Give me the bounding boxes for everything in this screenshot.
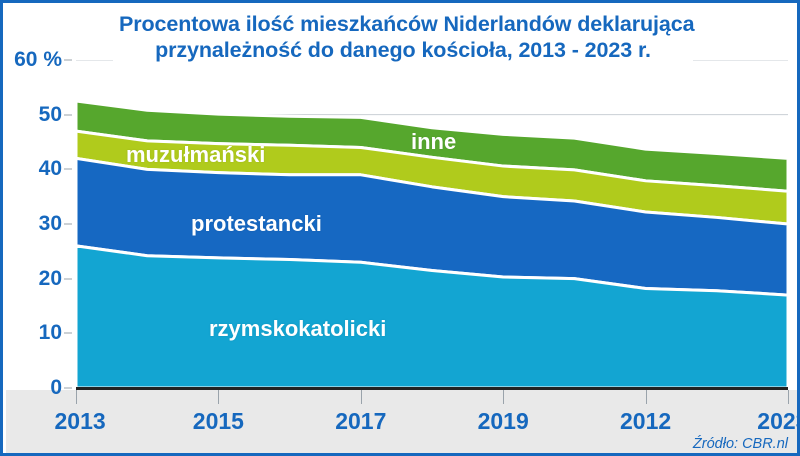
chart-title: Procentowa ilość mieszkańców Niderlandów…	[113, 9, 693, 65]
y-axis-tick-label: 40	[39, 157, 62, 181]
y-axis-tick-label: 30	[39, 212, 62, 236]
x-axis-tick-mark	[646, 390, 647, 404]
y-axis-tick-label: 60 %	[14, 48, 62, 72]
chart-title-line-1: Procentowa ilość mieszkańców Niderlandów…	[119, 11, 687, 37]
x-axis-tick-label: 2023	[757, 408, 800, 435]
x-axis-tick-label: 2012	[620, 408, 671, 435]
x-axis-line	[76, 387, 788, 390]
x-axis-tick-mark	[76, 390, 77, 404]
series-label-inne: inne	[411, 129, 456, 155]
x-axis-tick-mark	[361, 390, 362, 404]
y-axis-tick-mark	[64, 278, 72, 279]
source-note: Źródło: CBR.nl	[693, 436, 788, 452]
y-axis-tick-mark	[64, 114, 72, 115]
series-label-protestancki: protestancki	[191, 211, 322, 237]
chart-title-line-2: przynależność do danego kościoła, 2013 -…	[119, 37, 687, 63]
y-axis-tick-mark	[64, 388, 72, 389]
stacked-area-svg	[76, 60, 788, 388]
chart-figure: Procentowa ilość mieszkańców Niderlandów…	[0, 0, 800, 456]
x-axis-tick-mark	[788, 390, 789, 404]
x-axis-tick-label: 2017	[335, 408, 386, 435]
y-axis-tick-label: 50	[39, 103, 62, 127]
series-label-rzymskokatolicki: rzymskokatolicki	[209, 316, 386, 342]
y-axis-tick-label: 0	[50, 376, 62, 400]
y-axis: 0102030405060 %	[3, 3, 76, 456]
y-axis-tick-label: 20	[39, 267, 62, 291]
y-axis-tick-mark	[64, 60, 72, 61]
series-label-muzulmanski: muzułmański	[126, 142, 265, 168]
x-axis-tick-mark	[218, 390, 219, 404]
x-axis-tick-mark	[503, 390, 504, 404]
y-axis-tick-label: 10	[39, 321, 62, 345]
y-axis-tick-mark	[64, 169, 72, 170]
y-axis-tick-mark	[64, 333, 72, 334]
plot-area	[76, 60, 788, 388]
x-axis-strip: Źródło: CBR.nl 201320152017201920122023	[6, 390, 800, 456]
x-axis-tick-label: 2015	[193, 408, 244, 435]
y-axis-tick-mark	[64, 224, 72, 225]
x-axis-tick-label: 2019	[478, 408, 529, 435]
